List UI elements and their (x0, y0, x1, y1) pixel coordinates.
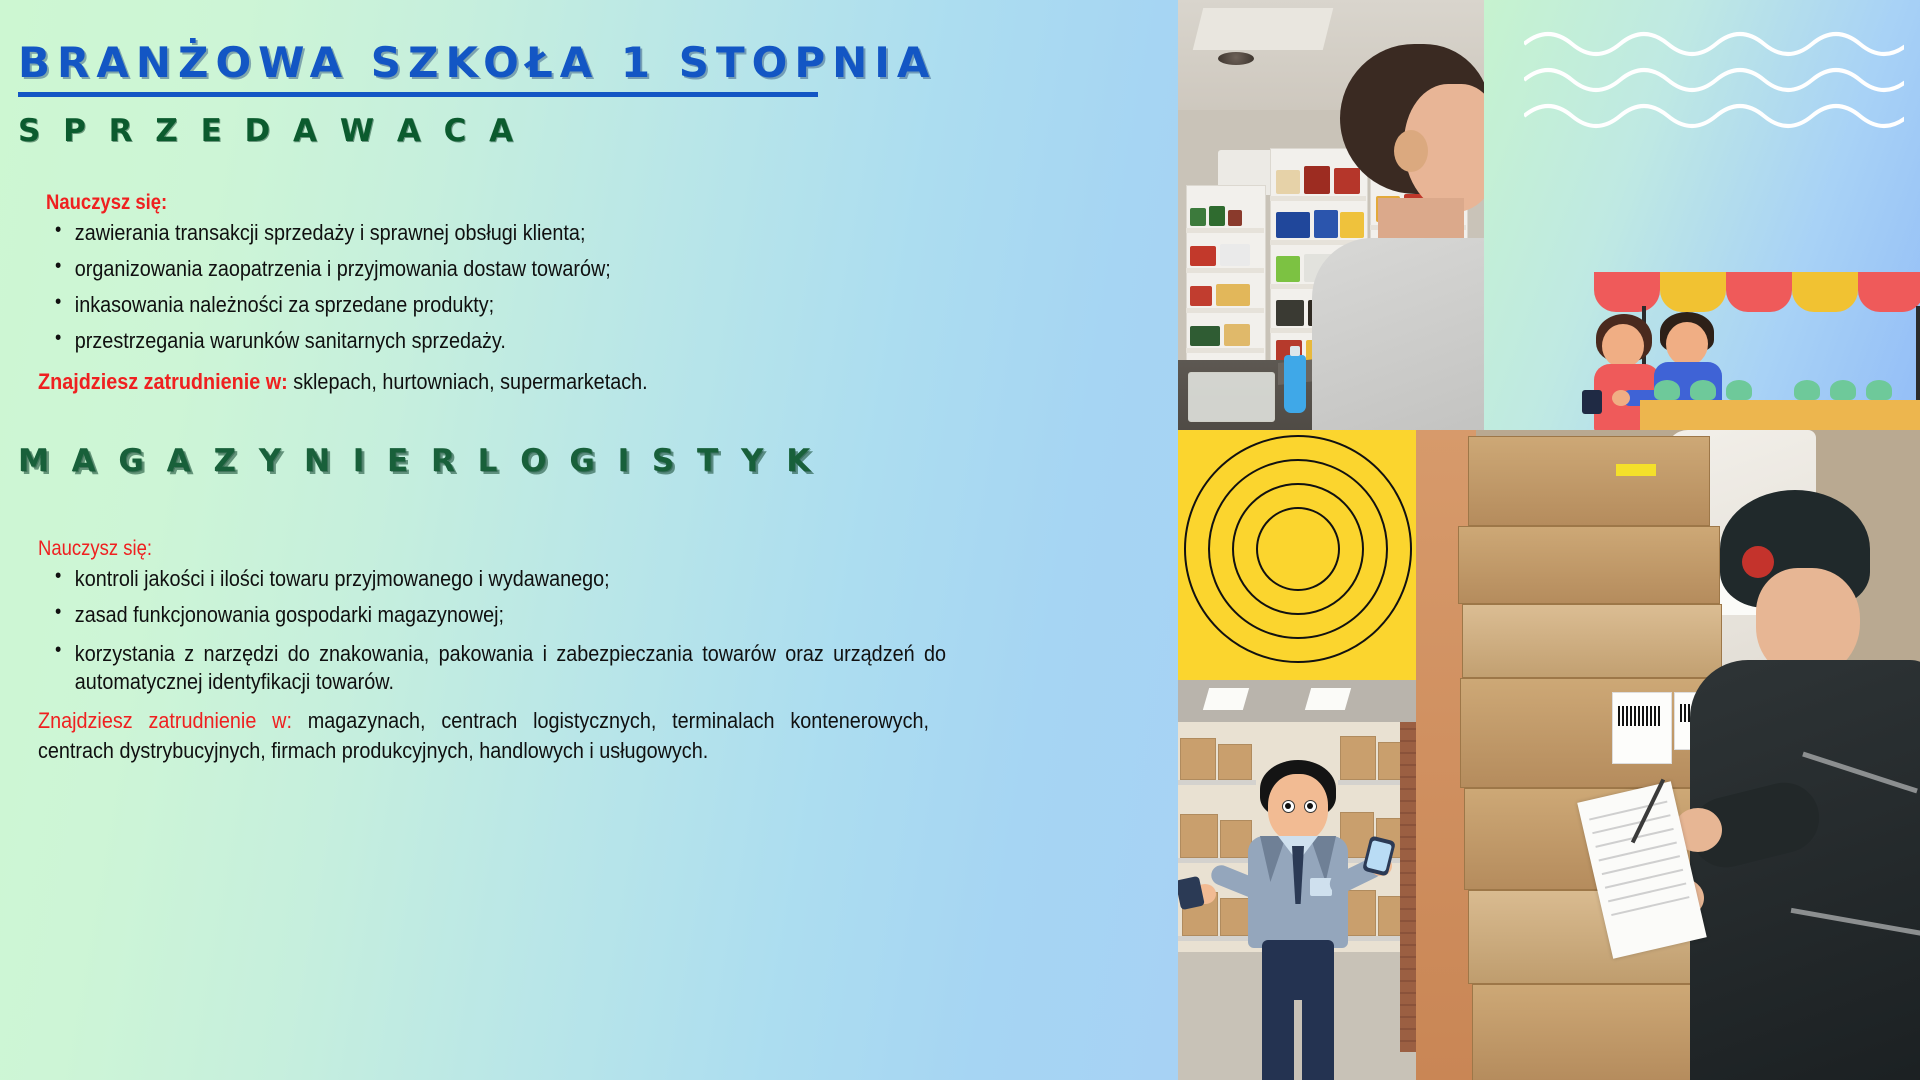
concentric-circles-tile (1178, 430, 1416, 680)
section2-footer-label: Znajdziesz zatrudnienie w: (38, 708, 292, 733)
warehouse-worker-illustration (1178, 680, 1416, 1080)
warehouse-worker-figure (1238, 760, 1358, 1080)
section1-bullet-list: zawierania transakcji sprzedaży i sprawn… (46, 222, 946, 366)
list-item: zasad funkcjonowania gospodarki magazyno… (46, 604, 946, 626)
section1-footer-text: sklepach, hurtowniach, supermarketach. (288, 369, 648, 394)
market-stall-illustration (1484, 0, 1920, 430)
section1-footer: Znajdziesz zatrudnienie w: sklepach, hur… (38, 367, 884, 397)
list-item: inkasowania należności za sprzedane prod… (46, 294, 856, 316)
wavy-lines-decoration (1524, 30, 1904, 140)
section1-footer-label: Znajdziesz zatrudnienie w: (38, 369, 288, 394)
blue-drink-bottle (1284, 355, 1306, 413)
section1-lead: Nauczysz się: (46, 190, 167, 216)
list-item: zawierania transakcji sprzedaży i sprawn… (46, 222, 856, 244)
list-item: przestrzegania warunków sanitarnych sprz… (46, 330, 856, 352)
section2-lead: Nauczysz się: (38, 536, 152, 562)
image-collage (1178, 0, 1920, 1080)
logistics-worker-person (1680, 490, 1920, 1080)
poster: BRANŻOWA SZKOŁA 1 STOPNIA S P R Z E D A … (0, 0, 1920, 1080)
stall-counter (1640, 400, 1920, 430)
section2-bullet-list: kontroli jakości i ilości towaru przyjmo… (46, 568, 1046, 709)
title-underline (18, 92, 818, 97)
section2-footer: Znajdziesz zatrudnienie w: magazynach, c… (38, 706, 929, 765)
candy-bin (1188, 372, 1275, 422)
section-heading-sprzedawaca: S P R Z E D A W A C A (18, 113, 519, 149)
section-heading-magazynier: M A G A Z Y N I E R L O G I S T Y K (18, 443, 816, 479)
page-title: BRANŻOWA SZKOŁA 1 STOPNIA (18, 38, 936, 87)
market-stall (1594, 272, 1920, 430)
list-item: korzystania z narzędzi do znakowania, pa… (46, 640, 946, 695)
ceiling-spotlight (1218, 52, 1254, 65)
warehouse-boxes-photo (1416, 430, 1920, 1080)
text-panel: BRANŻOWA SZKOŁA 1 STOPNIA S P R Z E D A … (0, 0, 1178, 1080)
list-item: kontroli jakości i ilości towaru przyjmo… (46, 568, 946, 590)
list-item: organizowania zaopatrzenia i przyjmowani… (46, 258, 856, 280)
